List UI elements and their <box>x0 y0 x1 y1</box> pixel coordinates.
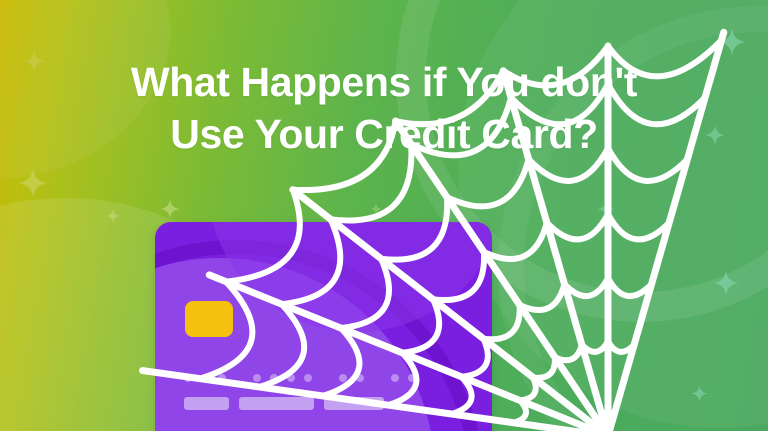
card-dot <box>270 374 278 382</box>
card-detail-bars <box>184 397 394 410</box>
headline-line-2: Use Your Credit Card? <box>0 108 768 160</box>
card-dot-gap <box>235 378 253 379</box>
card-bar <box>184 397 229 410</box>
page-title: What Happens if You don't Use Your Credi… <box>0 56 768 160</box>
banner-graphic: What Happens if You don't Use Your Credi… <box>0 0 768 431</box>
card-dot <box>253 374 261 382</box>
card-bar <box>324 397 384 410</box>
card-dot <box>287 374 295 382</box>
card-dot <box>218 374 226 382</box>
card-dot <box>391 374 399 382</box>
card-dot-gap <box>321 378 339 379</box>
card-bar <box>239 397 314 410</box>
card-chip-icon <box>185 301 233 337</box>
card-arc-top-glow <box>207 222 492 332</box>
card-dot <box>184 374 192 382</box>
card-dot <box>356 374 364 382</box>
card-dot <box>339 374 347 382</box>
card-dot <box>201 374 209 382</box>
headline-line-1: What Happens if You don't <box>131 59 637 105</box>
card-number-dots <box>184 374 425 382</box>
card-dot <box>304 374 312 382</box>
card-dot-gap <box>373 378 391 379</box>
card-dot <box>408 374 416 382</box>
credit-card-illustration <box>155 222 492 431</box>
